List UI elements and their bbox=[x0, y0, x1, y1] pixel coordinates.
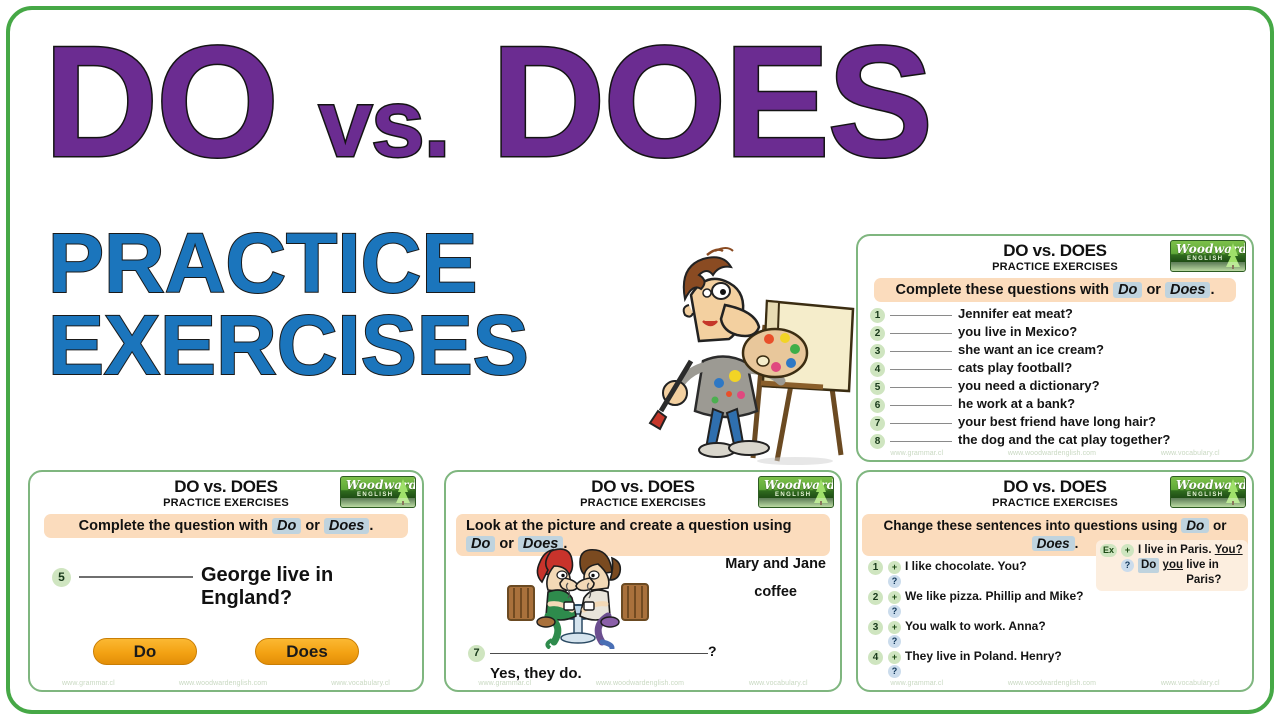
keyword-does: Does bbox=[1165, 282, 1210, 298]
sentence-text: They live in Poland. Henry? bbox=[905, 649, 1062, 664]
keyword-do: Do bbox=[1181, 518, 1209, 533]
instruction-banner: Complete the question with Do or Does. bbox=[44, 514, 408, 538]
woodward-english-logo: Woodward ENGLISH bbox=[1170, 240, 1246, 272]
question-text: your best friend have long hair? bbox=[958, 414, 1156, 429]
logo-reflection bbox=[1171, 262, 1245, 271]
question-mark: ? bbox=[708, 643, 717, 659]
sentence-row: 3 + You walk to work. Anna? bbox=[868, 619, 1103, 635]
card-header: DO vs. DOES PRACTICE EXERCISES Woodward … bbox=[446, 472, 840, 510]
question-mark-icon: ? bbox=[888, 575, 901, 588]
example-answer-row: ? Do you live in Paris? bbox=[1121, 558, 1244, 588]
answer-blank[interactable] bbox=[890, 423, 952, 424]
example-badge: Ex bbox=[1100, 544, 1117, 557]
footer-url[interactable]: www.woodwardenglish.com bbox=[179, 680, 267, 687]
banner-text-pre: Complete the question with bbox=[79, 518, 268, 534]
footer-urls: www.grammar.cl www.woodwardenglish.com w… bbox=[30, 680, 422, 687]
footer-urls: www.grammar.cl www.woodwardenglish.com w… bbox=[858, 450, 1252, 457]
question-number: 3 bbox=[870, 344, 885, 359]
question-row[interactable]: 4 cats play football? bbox=[870, 360, 1252, 377]
question-text: he work at a bank? bbox=[958, 396, 1075, 411]
footer-url[interactable]: www.grammar.cl bbox=[890, 680, 943, 687]
question-mark-icon: ? bbox=[1121, 559, 1134, 572]
answer-blank[interactable] bbox=[890, 315, 952, 316]
picture-prompt: Mary and Jane coffee bbox=[725, 550, 826, 606]
question-mark-icon: ? bbox=[888, 665, 901, 678]
sentence-text: You walk to work. Anna? bbox=[905, 619, 1046, 634]
title-do: DO bbox=[44, 14, 277, 190]
keyword-does: Does bbox=[1032, 536, 1075, 551]
answer-blank[interactable] bbox=[890, 441, 952, 442]
question-row[interactable]: 2 you live in Mexico? bbox=[870, 324, 1252, 341]
question-row[interactable]: 3 she want an ice cream? bbox=[870, 342, 1252, 359]
two-women-coffee-illustration bbox=[498, 544, 658, 649]
question-number: 4 bbox=[870, 362, 885, 377]
answer-row[interactable]: ? bbox=[888, 665, 1103, 678]
answer-row[interactable]: ? bbox=[888, 575, 1103, 588]
question-number: 2 bbox=[870, 326, 885, 341]
answer-blank[interactable] bbox=[890, 387, 952, 388]
page-subtitle: PRACTICE EXERCISES bbox=[48, 222, 708, 386]
card-complete-the-question: DO vs. DOES PRACTICE EXERCISES Woodward … bbox=[28, 470, 424, 692]
question-row[interactable]: 1 Jennifer eat meat? bbox=[870, 306, 1252, 323]
item-number: 3 bbox=[868, 620, 883, 635]
item-number: 4 bbox=[868, 650, 883, 665]
item-number: 1 bbox=[868, 560, 883, 575]
instruction-banner: Complete these questions with Do or Does… bbox=[874, 278, 1236, 302]
question-number: 5 bbox=[870, 380, 885, 395]
prompt-line-2: coffee bbox=[725, 578, 826, 606]
footer-url[interactable]: www.grammar.cl bbox=[890, 450, 943, 457]
answer-blank[interactable] bbox=[890, 369, 952, 370]
banner-text-post: . bbox=[1075, 536, 1079, 551]
question-number: 1 bbox=[870, 308, 885, 323]
subtitle-line-2: EXERCISES bbox=[48, 304, 708, 386]
footer-urls: www.grammar.cl www.woodwardenglish.com w… bbox=[446, 680, 840, 687]
footer-url[interactable]: www.grammar.cl bbox=[478, 680, 531, 687]
footer-url[interactable]: www.vocabulary.cl bbox=[749, 680, 808, 687]
footer-url[interactable]: www.woodwardenglish.com bbox=[1008, 450, 1096, 457]
banner-text-post: . bbox=[1210, 282, 1214, 298]
page-title: DO vs. DOES bbox=[44, 22, 1254, 204]
painter-illustration bbox=[645, 243, 860, 468]
card-header: DO vs. DOES PRACTICE EXERCISES Woodward … bbox=[858, 236, 1252, 274]
item-number: 2 bbox=[868, 590, 883, 605]
sentence-text: We like pizza. Phillip and Mike? bbox=[905, 589, 1083, 604]
example-box: Ex + I live in Paris. You? ? Do you live… bbox=[1096, 540, 1248, 591]
banner-text-pre: Complete these questions with bbox=[896, 282, 1110, 298]
question-text: cats play football? bbox=[958, 360, 1072, 375]
question-row[interactable]: 7 your best friend have long hair? bbox=[870, 414, 1252, 431]
banner-text-mid: or bbox=[305, 518, 320, 534]
keyword-do: Do bbox=[466, 536, 495, 552]
banner-text-mid: or bbox=[1146, 282, 1161, 298]
banner-text-pre: Look at the picture and create a questio… bbox=[466, 518, 792, 534]
answer-blank[interactable] bbox=[490, 653, 708, 654]
sentence-list: 1 + I like chocolate. You? ? 2 + We like… bbox=[858, 556, 1103, 678]
poster-root: DO vs. DOES PRACTICE EXERCISES bbox=[0, 0, 1280, 720]
question-number: 7 bbox=[870, 416, 885, 431]
woodward-english-logo: Woodward ENGLISH bbox=[1170, 476, 1246, 508]
question-row: 5 George live in England? bbox=[52, 564, 422, 610]
prompt-line-1: Mary and Jane bbox=[725, 550, 826, 578]
logo-reflection bbox=[759, 498, 833, 507]
woodward-english-logo: Woodward ENGLISH bbox=[758, 476, 834, 508]
card-header: DO vs. DOES PRACTICE EXERCISES Woodward … bbox=[858, 472, 1252, 510]
question-number: 6 bbox=[870, 398, 885, 413]
example-statement: I live in Paris. bbox=[1138, 543, 1212, 558]
answer-row[interactable]: ? bbox=[888, 605, 1103, 618]
question-mark-icon: ? bbox=[888, 605, 901, 618]
footer-urls: www.grammar.cl www.woodwardenglish.com w… bbox=[858, 680, 1252, 687]
example-keyword-do: Do bbox=[1138, 558, 1159, 573]
banner-text-post: . bbox=[369, 518, 373, 534]
question-text: she want an ice cream? bbox=[958, 342, 1104, 357]
card-change-sentences: DO vs. DOES PRACTICE EXERCISES Woodward … bbox=[856, 470, 1254, 692]
sentence-row: 2 + We like pizza. Phillip and Mike? bbox=[868, 589, 1103, 605]
example-answer-rest: live in Paris? bbox=[1186, 558, 1244, 588]
question-text: you need a dictionary? bbox=[958, 378, 1100, 393]
card-look-at-picture: DO vs. DOES PRACTICE EXERCISES Woodward … bbox=[444, 470, 842, 692]
keyword-do: Do bbox=[272, 518, 301, 534]
answer-blank[interactable] bbox=[890, 405, 952, 406]
answer-choice-group: Do Does bbox=[30, 638, 422, 665]
answer-blank[interactable] bbox=[79, 576, 193, 578]
plus-icon: + bbox=[1121, 544, 1134, 557]
answer-blank[interactable] bbox=[890, 333, 952, 334]
answer-row: 7 ? bbox=[468, 643, 717, 662]
title-vs: vs. bbox=[319, 70, 449, 177]
answer-blank[interactable] bbox=[890, 351, 952, 352]
banner-text-mid: or bbox=[1213, 518, 1227, 533]
question-number: 5 bbox=[52, 568, 71, 587]
plus-icon: + bbox=[888, 591, 901, 604]
question-row[interactable]: 5 you need a dictionary? bbox=[870, 378, 1252, 395]
plus-icon: + bbox=[888, 621, 901, 634]
logo-reflection bbox=[1171, 498, 1245, 507]
footer-url[interactable]: www.vocabulary.cl bbox=[1161, 680, 1220, 687]
footer-url[interactable]: www.vocabulary.cl bbox=[1161, 450, 1220, 457]
subtitle-line-1: PRACTICE bbox=[48, 222, 708, 304]
footer-url[interactable]: www.vocabulary.cl bbox=[331, 680, 390, 687]
question-number: 7 bbox=[468, 645, 485, 662]
keyword-does: Does bbox=[324, 518, 369, 534]
woodward-english-logo: Woodward ENGLISH bbox=[340, 476, 416, 508]
title-does: DOES bbox=[491, 14, 931, 190]
card-complete-questions: DO vs. DOES PRACTICE EXERCISES Woodward … bbox=[856, 234, 1254, 462]
answer-row[interactable]: ? bbox=[888, 635, 1103, 648]
example-answer-subject: you bbox=[1163, 558, 1183, 573]
answer-button-does[interactable]: Does bbox=[255, 638, 359, 665]
banner-text-pre: Change these sentences into questions us… bbox=[883, 518, 1177, 533]
example-statement-subject: You? bbox=[1215, 543, 1243, 558]
question-text: Jennifer eat meat? bbox=[958, 306, 1073, 321]
plus-icon: + bbox=[888, 561, 901, 574]
footer-url[interactable]: www.woodwardenglish.com bbox=[596, 680, 684, 687]
question-text: George live in England? bbox=[201, 564, 422, 610]
keyword-do: Do bbox=[1113, 282, 1142, 298]
question-number: 8 bbox=[870, 434, 885, 449]
logo-reflection bbox=[341, 498, 415, 507]
card-header: DO vs. DOES PRACTICE EXERCISES Woodward … bbox=[30, 472, 422, 510]
question-text: you live in Mexico? bbox=[958, 324, 1077, 339]
sentence-row: 1 + I like chocolate. You? bbox=[868, 559, 1103, 575]
footer-url[interactable]: www.grammar.cl bbox=[62, 680, 115, 687]
answer-button-do[interactable]: Do bbox=[93, 638, 197, 665]
sentence-row: 4 + They live in Poland. Henry? bbox=[868, 649, 1103, 665]
sentence-text: I like chocolate. You? bbox=[905, 559, 1027, 574]
question-row[interactable]: 8 the dog and the cat play together? bbox=[870, 432, 1252, 449]
question-list: 1 Jennifer eat meat? 2 you live in Mexic… bbox=[858, 302, 1252, 449]
footer-url[interactable]: www.woodwardenglish.com bbox=[1008, 680, 1096, 687]
question-text: the dog and the cat play together? bbox=[958, 432, 1170, 447]
question-mark-icon: ? bbox=[888, 635, 901, 648]
plus-icon: + bbox=[888, 651, 901, 664]
question-row[interactable]: 6 he work at a bank? bbox=[870, 396, 1252, 413]
example-statement-row: Ex + I live in Paris. You? bbox=[1100, 543, 1244, 558]
